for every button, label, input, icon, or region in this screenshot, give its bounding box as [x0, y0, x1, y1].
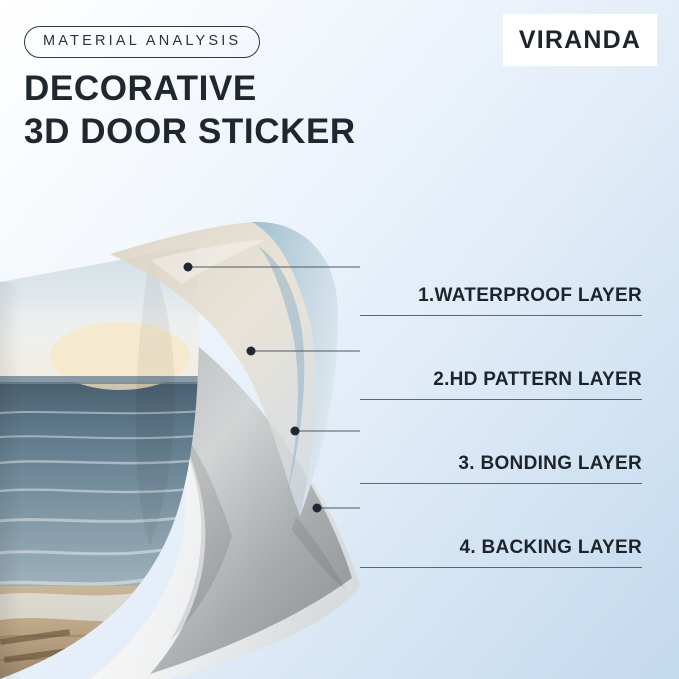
callout-1: 1.WATERPROOF LAYER [360, 232, 660, 316]
callout-list: 1.WATERPROOF LAYER 2.HD PATTERN LAYER 3.… [360, 232, 660, 568]
brand-name: VIRANDA [519, 26, 641, 55]
callout-1-label: 1.WATERPROOF LAYER [418, 285, 642, 307]
title-line-2: 3D DOOR STICKER [24, 111, 356, 154]
callout-2-label: 2.HD PATTERN LAYER [433, 369, 642, 391]
brand-logo: VIRANDA [503, 14, 657, 66]
title-line-1: DECORATIVE [24, 68, 356, 111]
callout-4: 4. BACKING LAYER [360, 484, 660, 568]
callout-2: 2.HD PATTERN LAYER [360, 316, 660, 400]
callout-4-rule [360, 567, 642, 568]
page-title: DECORATIVE 3D DOOR STICKER [24, 68, 356, 153]
callout-4-label: 4. BACKING LAYER [459, 537, 642, 559]
poster-canvas: MATERIAL ANALYSIS DECORATIVE 3D DOOR STI… [0, 0, 679, 679]
callout-3: 3. BONDING LAYER [360, 400, 660, 484]
callout-3-label: 3. BONDING LAYER [458, 453, 642, 475]
eyebrow-badge: MATERIAL ANALYSIS [24, 26, 260, 58]
